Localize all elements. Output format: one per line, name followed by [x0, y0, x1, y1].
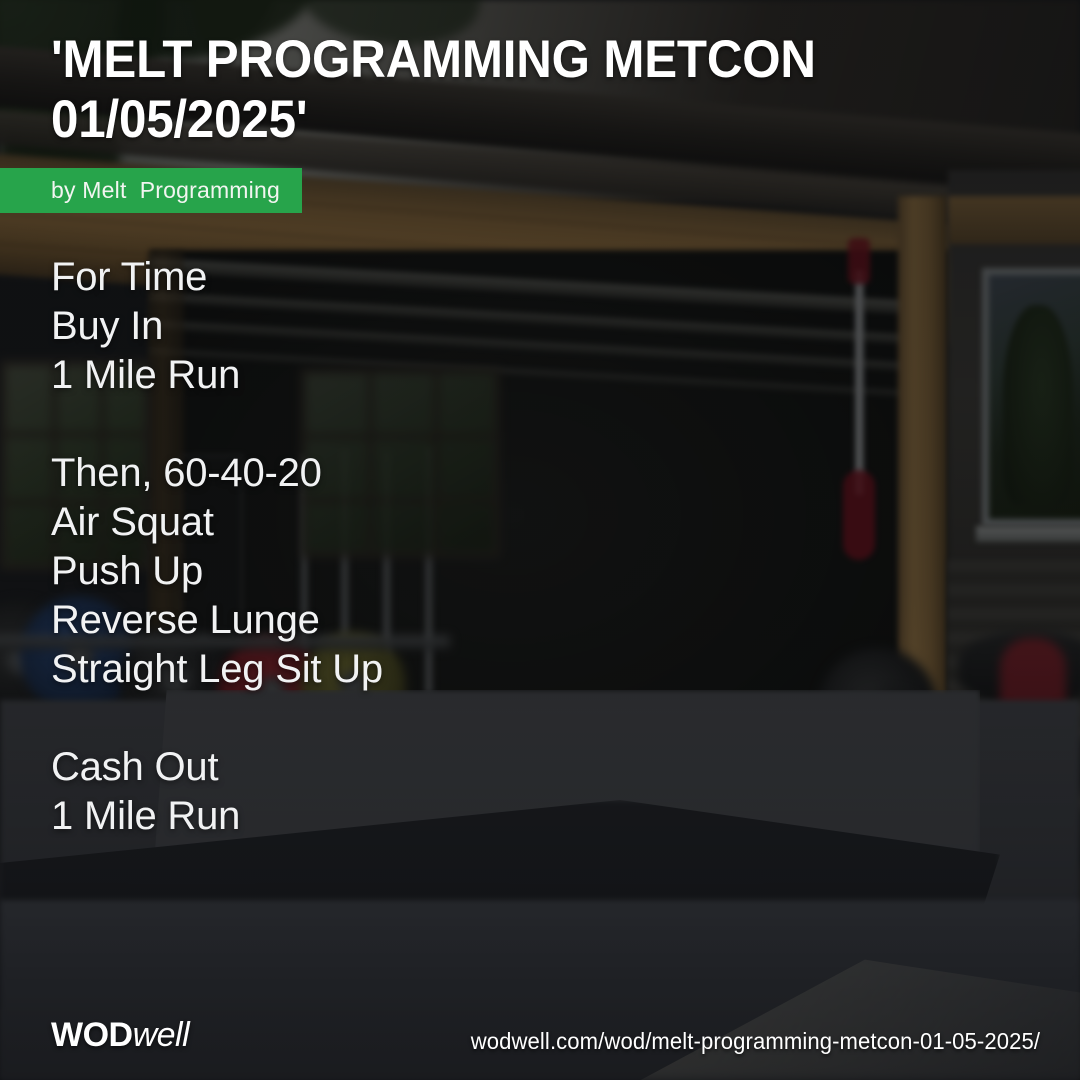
wod-workout-card: 'MELT PROGRAMMING METCON 01/05/2025' by …	[0, 0, 1080, 1080]
logo-well-text: well	[133, 1016, 190, 1054]
logo-wod-text: WOD	[51, 1016, 133, 1054]
author-badge[interactable]: by Melt Programming	[0, 168, 302, 213]
workout-description: For Time Buy In 1 Mile Run Then, 60-40-2…	[51, 253, 1011, 841]
page-title: 'MELT PROGRAMMING METCON 01/05/2025'	[51, 30, 869, 150]
source-url[interactable]: wodwell.com/wod/melt-programming-metcon-…	[471, 1028, 1040, 1055]
card-content: 'MELT PROGRAMMING METCON 01/05/2025' by …	[0, 0, 1080, 1080]
author-badge-label: by Melt Programming	[51, 177, 280, 204]
wodwell-logo[interactable]: WODwell	[51, 1016, 189, 1055]
